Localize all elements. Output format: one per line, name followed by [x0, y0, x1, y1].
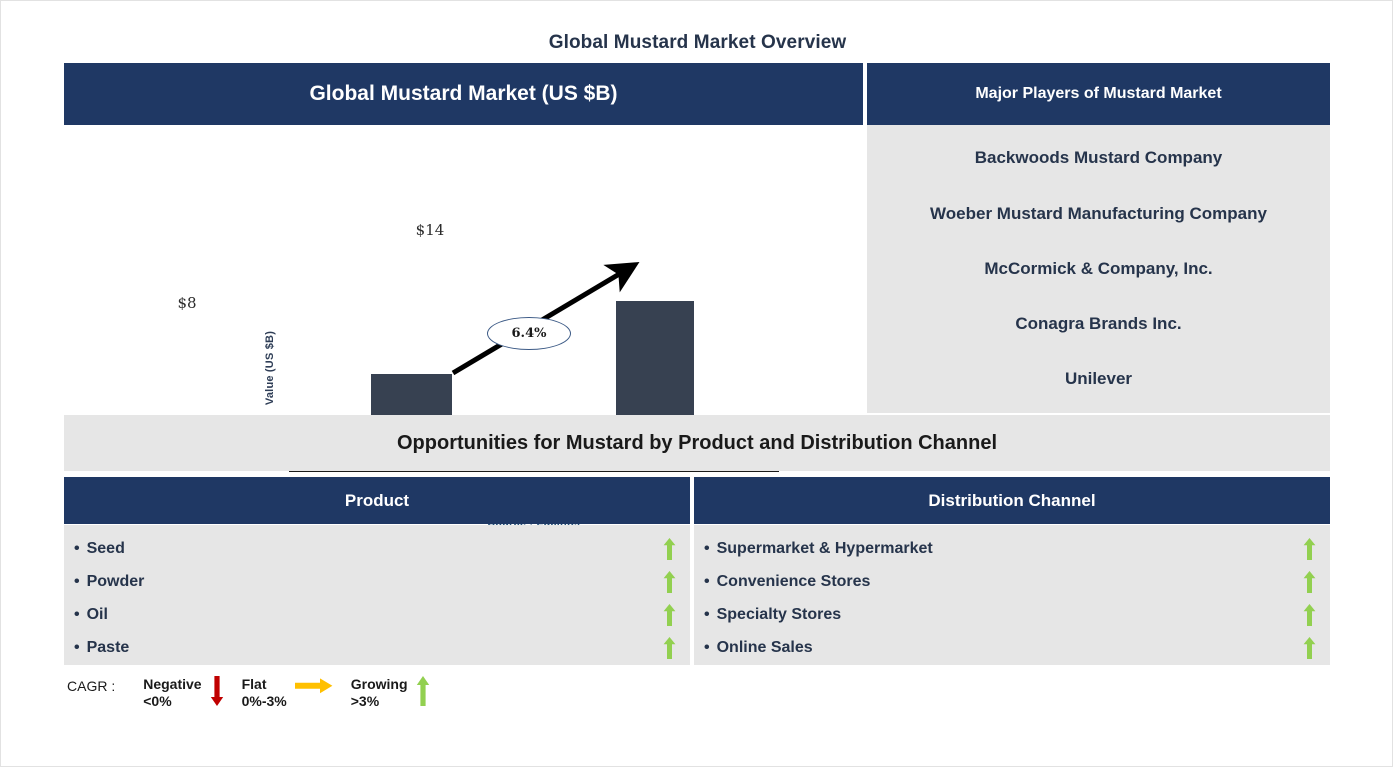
y-axis-label-text: Value (US $B) [264, 331, 276, 405]
y-axis-label: Value (US $B) [260, 321, 280, 415]
opportunities-title: Opportunities for Mustard by Product and… [397, 432, 997, 455]
chart-panel-header: Global Mustard Market (US $B) [64, 63, 863, 125]
arrow-up-icon [663, 571, 676, 593]
arrow-up-icon [1303, 538, 1316, 560]
cagr-callout: 6.4% [487, 317, 571, 350]
page-title: Global Mustard Market Overview [1, 32, 1393, 54]
legend-negative-range: <0% [143, 693, 201, 710]
arrow-up-icon [1303, 604, 1316, 626]
legend-entry-negative: Negative <0% [143, 676, 231, 710]
channel-label: Convenience Stores [704, 573, 870, 591]
opportunities-band: Opportunities for Mustard by Product and… [64, 415, 1330, 471]
cagr-legend: CAGR : Negative <0% Flat 0%-3% Growing >… [67, 676, 448, 716]
list-item: Oil [74, 598, 676, 631]
legend-entry-growing-text: Growing >3% [351, 676, 408, 710]
cagr-callout-label: 6.4% [512, 326, 547, 341]
list-item: Paste [74, 631, 676, 664]
list-item: Conagra Brands Inc. [1015, 314, 1181, 334]
channel-label: Supermarket & Hypermarket [704, 540, 933, 558]
legend-flat-range: 0%-3% [242, 693, 287, 710]
legend-entry-flat-text: Flat 0%-3% [242, 676, 287, 710]
legend-entry-flat: Flat 0%-3% [242, 676, 341, 710]
product-column-header-label: Product [345, 491, 409, 511]
arrow-up-icon [1303, 571, 1316, 593]
list-item: Online Sales [704, 631, 1316, 664]
list-item: Specialty Stores [704, 598, 1316, 631]
product-label: Seed [74, 540, 125, 558]
arrow-up-icon [416, 676, 430, 706]
list-item: Backwoods Mustard Company [975, 148, 1223, 168]
arrow-up-icon [663, 604, 676, 626]
legend-entry-growing: Growing >3% [351, 676, 438, 710]
chart-panel-header-label: Global Mustard Market (US $B) [309, 82, 617, 106]
list-item: Unilever [1065, 369, 1132, 389]
channel-list: Supermarket & Hypermarket Convenience St… [704, 532, 1316, 664]
cagr-legend-label: CAGR : [67, 676, 115, 694]
channel-column-header-label: Distribution Channel [928, 491, 1095, 511]
product-label: Powder [74, 573, 144, 591]
legend-growing-name: Growing [351, 676, 408, 692]
list-item: Powder [74, 565, 676, 598]
product-label: Oil [74, 606, 108, 624]
arrow-down-icon [210, 676, 224, 706]
channel-label: Online Sales [704, 639, 813, 657]
infographic-canvas: Global Mustard Market Overview Global Mu… [0, 0, 1393, 767]
bar-chart: Value (US $B) 6.4% $8 $14 2026 2035 [64, 125, 863, 413]
players-panel-header-label: Major Players of Mustard Market [975, 85, 1221, 103]
legend-negative-name: Negative [143, 676, 201, 692]
arrow-right-icon [295, 677, 333, 699]
list-item: McCormick & Company, Inc. [984, 259, 1212, 279]
bar-value-2035: $14 [390, 221, 470, 239]
channel-column-header: Distribution Channel [694, 477, 1330, 524]
arrow-up-icon [663, 637, 676, 659]
product-label: Paste [74, 639, 129, 657]
product-column-header: Product [64, 477, 690, 524]
list-item: Seed [74, 532, 676, 565]
channel-column-body: Supermarket & Hypermarket Convenience St… [694, 525, 1330, 665]
legend-flat-name: Flat [242, 676, 267, 692]
arrow-up-icon [1303, 637, 1316, 659]
list-item: Woeber Mustard Manufacturing Company [930, 204, 1267, 224]
channel-label: Specialty Stores [704, 606, 841, 624]
players-list: Backwoods Mustard Company Woeber Mustard… [867, 125, 1330, 413]
players-panel-header: Major Players of Mustard Market [867, 63, 1330, 125]
bar-value-2026: $8 [147, 294, 227, 312]
product-list: Seed Powder Oil Paste [74, 532, 676, 664]
list-item: Supermarket & Hypermarket [704, 532, 1316, 565]
legend-growing-range: >3% [351, 693, 408, 710]
product-column-body: Seed Powder Oil Paste [64, 525, 690, 665]
arrow-up-icon [663, 538, 676, 560]
legend-entry-negative-text: Negative <0% [143, 676, 201, 710]
list-item: Convenience Stores [704, 565, 1316, 598]
